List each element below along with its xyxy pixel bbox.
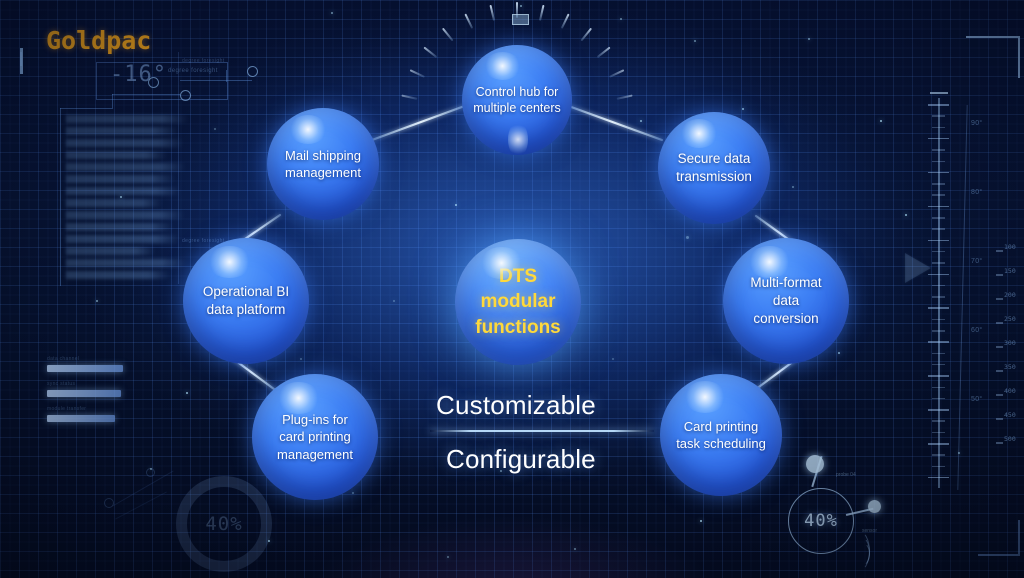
brand-logo: Goldpac <box>46 26 151 55</box>
ruler-degree-label: 90° <box>971 120 983 127</box>
ruler-tick <box>932 387 945 389</box>
callout-label-top: probe 04 <box>836 472 856 478</box>
ruler-tick <box>932 161 945 163</box>
ambient-speck <box>905 214 907 216</box>
ruler-tick <box>928 274 949 276</box>
status-bar-1 <box>47 390 121 397</box>
ruler-scale-label: 100 <box>1004 243 1016 251</box>
ruler-tick <box>932 115 945 117</box>
ruler-tick <box>928 409 949 411</box>
radial-tick <box>609 69 624 78</box>
ambient-speck <box>96 300 98 302</box>
ruler-tick <box>932 319 945 321</box>
ambient-speck <box>120 196 122 198</box>
ambient-speck <box>455 204 457 206</box>
schematic-wire <box>112 94 180 95</box>
margin-degree-label: degree foresight <box>182 58 225 64</box>
radial-tick <box>410 69 425 78</box>
ruler-tick <box>932 285 945 287</box>
ruler-scale-tick <box>996 394 1003 396</box>
node-label: Operational BI data platform <box>193 283 299 319</box>
ambient-speck <box>700 520 702 522</box>
node-specular-icon <box>484 52 521 81</box>
gauge-right: 40% <box>788 488 854 554</box>
node-specular-icon <box>680 119 718 148</box>
ruler-scale-tick <box>996 346 1003 348</box>
ruler-scale-tick <box>996 298 1003 300</box>
callout-dot-top-icon <box>806 455 824 473</box>
schematic-wire <box>226 70 227 82</box>
ruler-tick <box>928 138 949 140</box>
play-triangle-icon <box>905 253 931 283</box>
corner-bracket-bottom-right-icon <box>978 520 1020 556</box>
ambient-speck <box>694 40 696 42</box>
ruler-scale-label: 450 <box>1004 411 1016 419</box>
ruler-tick <box>932 420 945 422</box>
bar-label-2: module transfer <box>47 406 86 412</box>
radial-tick <box>597 47 611 58</box>
ruler-tick <box>932 194 945 196</box>
wave-arc-icon <box>854 542 870 566</box>
ruler-cap <box>930 92 948 94</box>
ruler-tick <box>928 307 949 309</box>
ruler-axis-secondary <box>957 105 967 490</box>
ruler-tick <box>932 149 945 151</box>
ambient-speck <box>214 128 216 130</box>
corner-bracket-top-right-icon <box>966 36 1020 78</box>
corner-bar-top-left-icon <box>20 48 23 74</box>
ambient-speck <box>808 38 810 40</box>
ambient-speck <box>640 120 642 122</box>
node-mail-shipping-management[interactable]: Mail shipping management <box>267 108 379 220</box>
ambient-speck <box>331 12 333 14</box>
hud-diagram-canvas: -16° degree foresight degree foresight d… <box>0 0 1024 578</box>
ruler-degree-label: 80° <box>971 189 983 196</box>
ruler-scale-label: 150 <box>1004 267 1016 275</box>
radial-tick <box>516 2 518 18</box>
ambient-speck <box>620 18 622 20</box>
ruler-axis <box>938 98 940 488</box>
ambient-speck <box>742 108 744 110</box>
ambient-speck <box>612 358 614 360</box>
ambient-speck <box>447 556 449 558</box>
ambient-speck <box>393 300 395 302</box>
ruler-scale-tick <box>996 418 1003 420</box>
ruler-tick <box>928 443 949 445</box>
caption-line-2: Configurable <box>436 444 646 475</box>
center-node-label: DTS modular functions <box>465 264 571 339</box>
ruler-tick <box>932 466 945 468</box>
node-label: Multi-format data conversion <box>740 274 831 327</box>
ruler-scale-label: 350 <box>1004 363 1016 371</box>
schematic-wire <box>60 108 61 286</box>
gauge-left: 40% <box>176 476 272 572</box>
ruler-scale-label: 300 <box>1004 339 1016 347</box>
ruler-degree-label: 60° <box>971 327 983 334</box>
node-control-hub[interactable]: Control hub for multiple centers <box>462 45 572 155</box>
ruler-tick <box>932 183 945 185</box>
ambient-speck <box>300 358 302 360</box>
node-multi-format-data-conversion[interactable]: Multi-format data conversion <box>723 238 849 364</box>
radial-tick <box>464 14 473 29</box>
node-label: Secure data transmission <box>666 150 762 186</box>
schematic-node-icon <box>247 66 258 77</box>
node-card-printing-task-scheduling[interactable]: Card printing task scheduling <box>660 374 782 496</box>
schematic-wire <box>112 94 113 109</box>
blurred-text-block <box>66 115 194 285</box>
node-label: Control hub for multiple centers <box>463 84 571 117</box>
ruler-scale-label: 400 <box>1004 387 1016 395</box>
gauge-left-value: 40% <box>187 513 261 535</box>
ruler-tick <box>932 398 945 400</box>
margin-rule <box>178 52 179 284</box>
decor-circle-icon <box>104 498 114 508</box>
node-specular-icon <box>277 382 320 415</box>
ruler-tick <box>928 341 949 343</box>
ruler-tick <box>932 296 945 298</box>
ruler-scale-label: 250 <box>1004 315 1016 323</box>
ruler-scale-tick <box>996 370 1003 372</box>
ruler-degree-label: 70° <box>971 258 983 265</box>
ruler-scale-tick <box>996 442 1003 444</box>
bar-label-1: sync status <box>47 381 75 387</box>
ambient-speck <box>880 120 882 122</box>
ruler-tick <box>932 454 945 456</box>
radial-tick <box>580 28 592 42</box>
radial-tick <box>423 47 437 58</box>
ambient-speck <box>186 392 188 394</box>
ruler-degree-label: 50° <box>971 396 983 403</box>
radial-tick <box>539 5 545 21</box>
node-plugins-card-printing-management[interactable]: Plug-ins for card printing management <box>252 374 378 500</box>
ruler-scale-label: 500 <box>1004 435 1016 443</box>
radial-tick <box>442 28 454 42</box>
ruler-tick <box>928 375 949 377</box>
node-secure-data-transmission[interactable]: Secure data transmission <box>658 112 770 224</box>
node-specular-icon <box>508 122 528 157</box>
ruler-tick <box>928 104 949 106</box>
ambient-speck <box>792 186 794 188</box>
node-operational-bi-data-platform[interactable]: Operational BI data platform <box>183 238 309 364</box>
gauge-right-value: 40% <box>789 511 853 531</box>
decor-line <box>115 491 167 519</box>
ruler-tick <box>932 330 945 332</box>
ambient-speck <box>686 236 689 239</box>
schematic-wire <box>60 108 112 109</box>
ambient-speck <box>150 468 152 470</box>
angle-readout-sublabel: degree foresight <box>168 68 218 74</box>
caption-divider <box>430 430 654 432</box>
node-label: Mail shipping management <box>275 147 371 181</box>
schematic-wire <box>180 80 252 81</box>
ruler-tick <box>932 251 945 253</box>
node-specular-icon <box>289 115 327 144</box>
ruler-scale-label: 200 <box>1004 291 1016 299</box>
status-bar-0 <box>47 365 123 372</box>
decor-line <box>112 471 173 507</box>
ambient-speck <box>958 452 960 454</box>
ambient-speck <box>574 548 576 550</box>
radial-tick <box>489 5 495 21</box>
radial-tick <box>401 94 417 99</box>
bar-label-0: data channel <box>47 356 79 362</box>
node-specular-icon <box>208 246 251 279</box>
node-specular-icon <box>684 381 725 413</box>
ruler-tick <box>932 262 945 264</box>
ruler-scale-tick <box>996 250 1003 252</box>
ruler-tick <box>932 364 945 366</box>
node-label: Plug-ins for card printing management <box>267 411 363 462</box>
schematic-node-icon <box>148 77 159 88</box>
ruler-scale-tick <box>996 322 1003 324</box>
ruler-tick <box>928 477 949 479</box>
radial-marker-box-icon <box>512 14 529 25</box>
status-bar-2 <box>47 415 115 422</box>
ruler-tick <box>932 432 945 434</box>
node-center-dts-modular-functions[interactable]: DTS modular functions <box>455 239 581 365</box>
node-label: Card printing task scheduling <box>666 418 776 452</box>
ambient-speck <box>520 5 522 7</box>
ruler-tick <box>928 206 949 208</box>
ruler-tick <box>932 228 945 230</box>
ambient-speck <box>352 492 354 494</box>
radial-tick <box>561 14 570 29</box>
radial-tick <box>617 94 633 99</box>
ruler-scale-tick <box>996 274 1003 276</box>
ambient-speck <box>838 352 840 354</box>
ruler-tick <box>928 172 949 174</box>
caption-block: Customizable Configurable <box>436 390 646 475</box>
ruler-tick <box>932 127 945 129</box>
ruler-tick <box>928 240 949 242</box>
caption-line-1: Customizable <box>436 390 646 430</box>
ambient-speck <box>268 540 270 542</box>
ruler-tick <box>932 353 945 355</box>
callout-dot-right-icon <box>868 500 881 513</box>
ruler-tick <box>932 217 945 219</box>
schematic-node-icon <box>180 90 191 101</box>
